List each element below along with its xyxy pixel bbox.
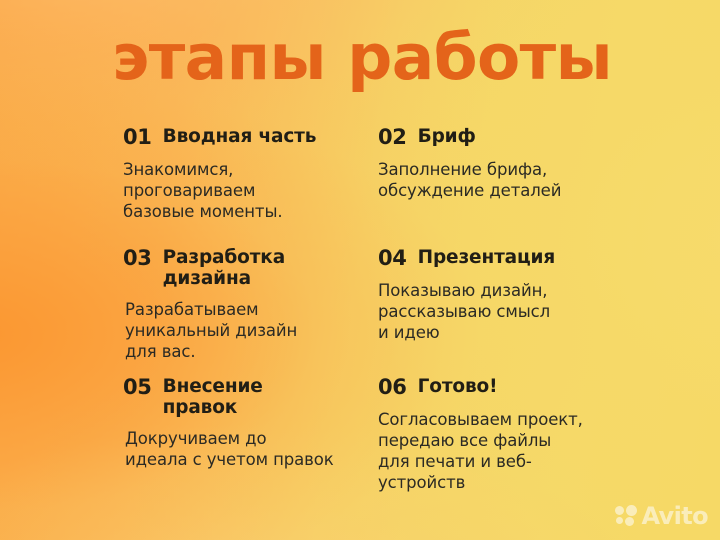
step-title: Внесение правок [163, 376, 378, 419]
step-title: Разработка дизайна [163, 247, 378, 290]
avito-watermark: Avito [615, 504, 708, 528]
step-title: Вводная часть [163, 126, 378, 147]
step-description: Знакомимся, проговариваем базовые момент… [123, 159, 378, 222]
step-header: 05 Внесение правок [123, 376, 378, 419]
step-item-01: 01 Вводная часть Знакомимся, проговарива… [123, 126, 378, 222]
step-title: Бриф [418, 126, 633, 147]
step-number: 01 [123, 126, 152, 150]
step-item-05: 05 Внесение правок Докручиваем до идеала… [123, 376, 378, 470]
step-item-03: 03 Разработка дизайна Разрабатываем уник… [123, 247, 378, 362]
page-title: этапы работы [112, 26, 612, 89]
step-header: 06 Готово! [378, 376, 633, 400]
step-description: Докручиваем до идеала с учетом правок [123, 428, 378, 470]
avito-wordmark: Avito [641, 504, 708, 528]
step-header: 03 Разработка дизайна [123, 247, 378, 290]
step-description: Разрабатываем уникальный дизайн для вас. [123, 299, 378, 362]
step-item-06: 06 Готово! Согласовываем проект, передаю… [378, 376, 633, 493]
step-item-04: 04 Презентация Показываю дизайн, рассказ… [378, 247, 633, 343]
step-description: Заполнение брифа, обсуждение деталей [378, 159, 633, 201]
step-header: 02 Бриф [378, 126, 633, 150]
avito-dots-icon [615, 505, 637, 527]
step-number: 06 [378, 376, 407, 400]
step-description: Показываю дизайн, рассказываю смысл и ид… [378, 280, 633, 343]
poster-canvas: этапы работы 01 Вводная часть Знакомимся… [0, 0, 720, 540]
step-title: Презентация [418, 247, 633, 268]
step-title: Готово! [418, 376, 633, 397]
step-number: 03 [123, 247, 152, 271]
step-number: 04 [378, 247, 407, 271]
step-header: 04 Презентация [378, 247, 633, 271]
step-number: 05 [123, 376, 152, 400]
step-header: 01 Вводная часть [123, 126, 378, 150]
step-number: 02 [378, 126, 407, 150]
step-item-02: 02 Бриф Заполнение брифа, обсуждение дет… [378, 126, 633, 201]
step-description: Согласовываем проект, передаю все файлы … [378, 409, 633, 493]
